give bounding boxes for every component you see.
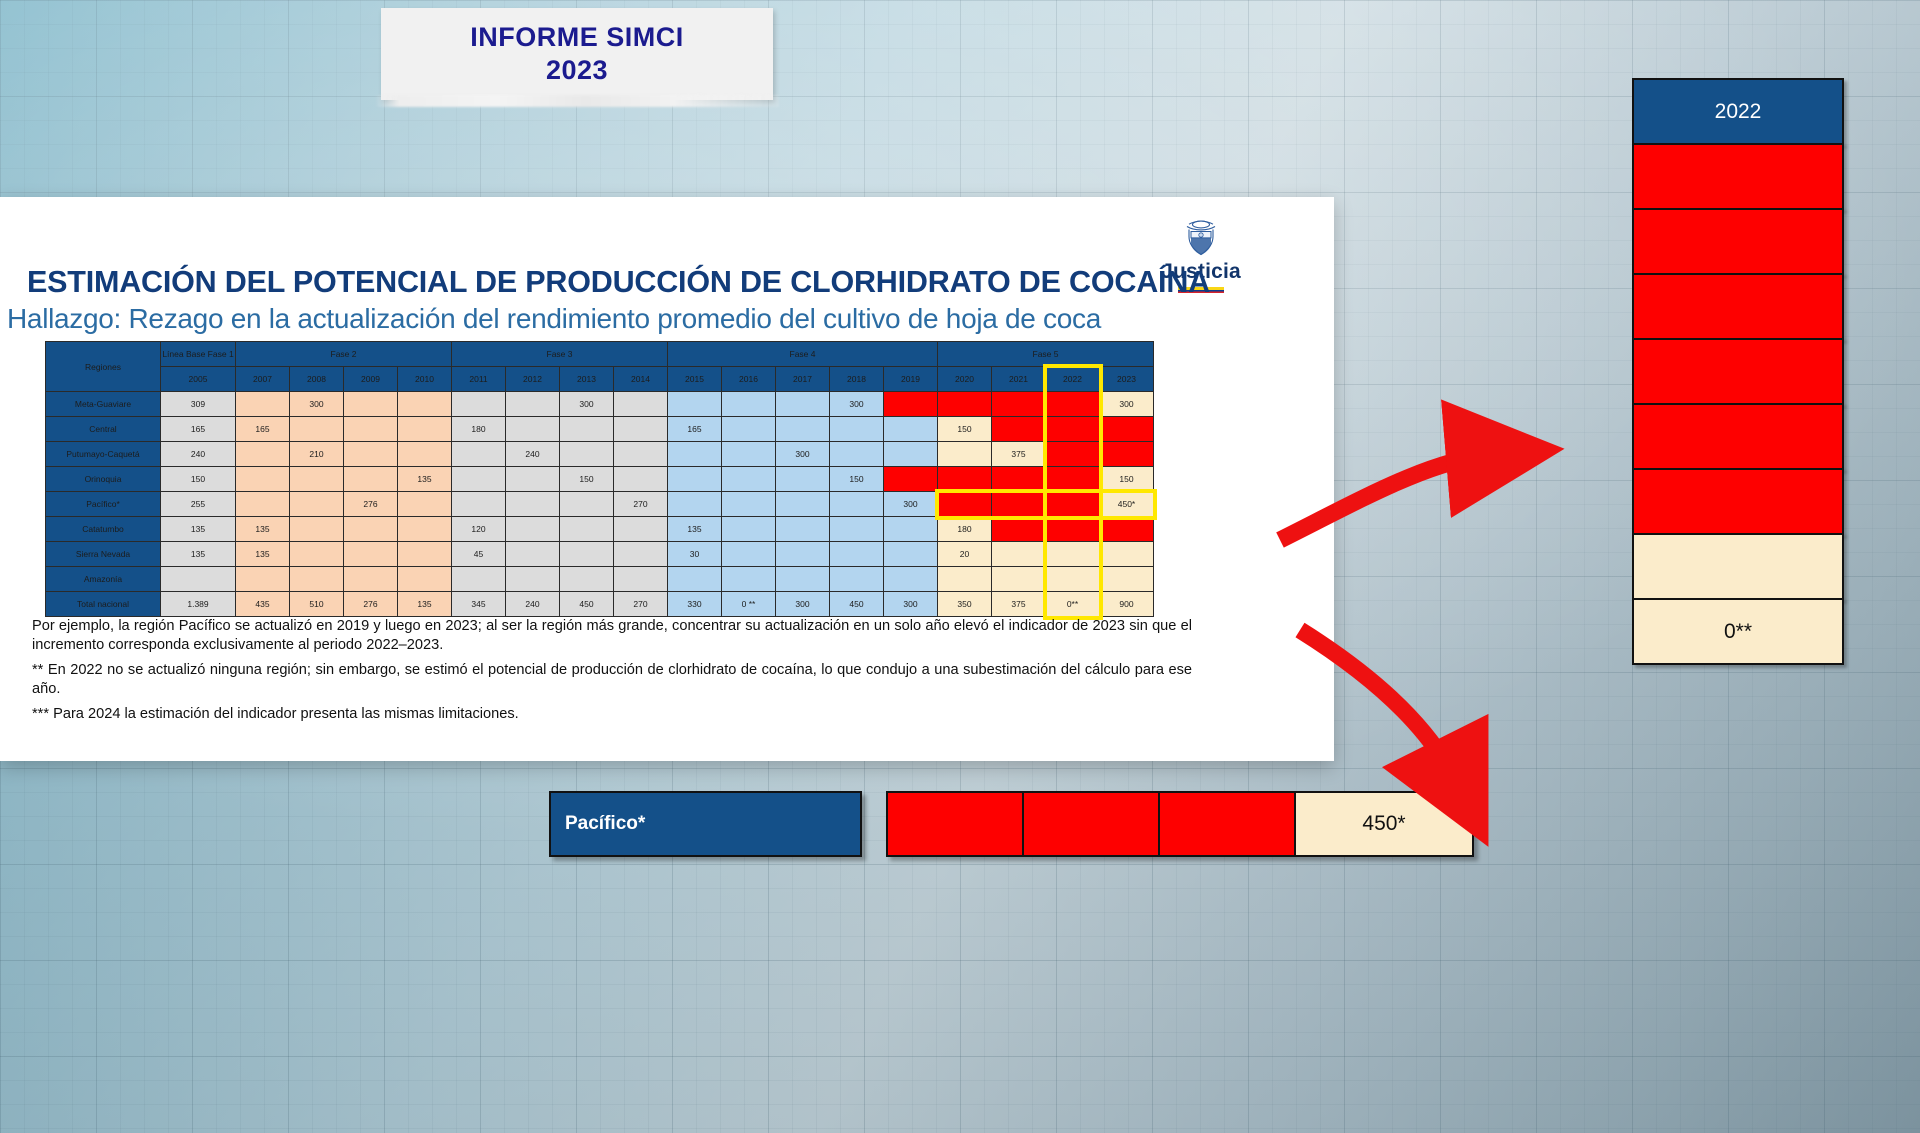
table-row: Putumayo-Caquetá240210240300375 — [46, 442, 1154, 467]
zoom-column-cell-1 — [1632, 143, 1844, 210]
cell-2008 — [290, 567, 344, 592]
cell-2012 — [506, 492, 560, 517]
cell-2009 — [344, 442, 398, 467]
cell-2009 — [344, 517, 398, 542]
page-subtitle: Hallazgo: Rezago en la actualización del… — [7, 303, 1101, 335]
year-header-2007: 2007 — [236, 367, 290, 392]
year-header-2017: 2017 — [776, 367, 830, 392]
cell-2011: 180 — [452, 417, 506, 442]
cell-2012 — [506, 517, 560, 542]
cell-2020: 150 — [938, 417, 992, 442]
phase-header-2: Fase 2 — [236, 342, 452, 367]
cell-2020 — [938, 442, 992, 467]
zoom-column-cell-4 — [1632, 338, 1844, 405]
cell-2005: 150 — [161, 467, 236, 492]
zoom-column-cell-3 — [1632, 273, 1844, 340]
cell-2010: 135 — [398, 592, 452, 617]
cell-2005: 1.389 — [161, 592, 236, 617]
cell-2019: 300 — [884, 492, 938, 517]
row-region-label: Sierra Nevada — [46, 542, 161, 567]
zoom-column-cell-total: 0** — [1632, 598, 1844, 665]
cell-2005: 135 — [161, 542, 236, 567]
cell-2019 — [884, 442, 938, 467]
cell-2020 — [938, 467, 992, 492]
cell-2016 — [722, 467, 776, 492]
cell-2007 — [236, 442, 290, 467]
cell-2023 — [1100, 517, 1154, 542]
cell-2008: 300 — [290, 392, 344, 417]
cell-2018: 150 — [830, 467, 884, 492]
cell-2017 — [776, 542, 830, 567]
phase-header-4: Fase 4 — [668, 342, 938, 367]
cell-2011 — [452, 567, 506, 592]
report-banner: INFORME SIMCI 2023 — [381, 8, 773, 100]
row-region-label: Meta-Guaviare — [46, 392, 161, 417]
table-row: Orinoquia150135150150150 — [46, 467, 1154, 492]
cell-2008 — [290, 492, 344, 517]
table-body: Meta-Guaviare309300300300300Central16516… — [46, 392, 1154, 617]
cell-2019: 300 — [884, 592, 938, 617]
cell-2012 — [506, 467, 560, 492]
cell-2015: 30 — [668, 542, 722, 567]
cell-2005: 240 — [161, 442, 236, 467]
cell-2018 — [830, 417, 884, 442]
cell-2021 — [992, 517, 1046, 542]
cell-2010 — [398, 442, 452, 467]
phase-header-3: Fase 3 — [452, 342, 668, 367]
cell-2014: 270 — [614, 592, 668, 617]
cell-2022 — [1046, 417, 1100, 442]
table-row: Total nacional1.389435510276135345240450… — [46, 592, 1154, 617]
zoom-column-cell-6 — [1632, 468, 1844, 535]
cell-2014 — [614, 417, 668, 442]
zoom-column-cell-2 — [1632, 208, 1844, 275]
cell-2017 — [776, 417, 830, 442]
cell-2021: 375 — [992, 442, 1046, 467]
cell-2023 — [1100, 417, 1154, 442]
cell-2012: 240 — [506, 592, 560, 617]
cell-2005 — [161, 567, 236, 592]
year-header-2021: 2021 — [992, 367, 1046, 392]
cell-2018: 450 — [830, 592, 884, 617]
row-region-label: Catatumbo — [46, 517, 161, 542]
cell-2016 — [722, 442, 776, 467]
cell-2013 — [560, 442, 614, 467]
cell-2009: 276 — [344, 492, 398, 517]
cell-2012 — [506, 567, 560, 592]
cell-2010 — [398, 417, 452, 442]
cell-2015: 330 — [668, 592, 722, 617]
year-header-2022: 2022 — [1046, 367, 1100, 392]
cell-2012 — [506, 392, 560, 417]
cell-2018 — [830, 567, 884, 592]
zoom-column-2022: 20220** — [1632, 78, 1844, 665]
cell-2011 — [452, 467, 506, 492]
year-header-2014: 2014 — [614, 367, 668, 392]
cell-2019 — [884, 417, 938, 442]
cell-2022 — [1046, 392, 1100, 417]
cell-2018 — [830, 542, 884, 567]
cell-2020 — [938, 392, 992, 417]
table-row: Pacífico*255276270300450* — [46, 492, 1154, 517]
year-header-2012: 2012 — [506, 367, 560, 392]
cell-2011: 120 — [452, 517, 506, 542]
cell-2022 — [1046, 517, 1100, 542]
cell-2009 — [344, 467, 398, 492]
cell-2013 — [560, 542, 614, 567]
zoom-column-cell-5 — [1632, 403, 1844, 470]
cell-2014: 270 — [614, 492, 668, 517]
zoom-column-cell-7 — [1632, 533, 1844, 600]
cell-2005: 165 — [161, 417, 236, 442]
cell-2009: 276 — [344, 592, 398, 617]
row-region-label: Pacífico* — [46, 492, 161, 517]
cell-2017: 300 — [776, 442, 830, 467]
cell-2015 — [668, 392, 722, 417]
slide-card: Justicia ESTIMACIÓN DEL POTENCIAL DE PRO… — [0, 197, 1334, 761]
zoom-row-segment-3 — [1160, 793, 1296, 855]
cell-2021 — [992, 542, 1046, 567]
cell-2023: 150 — [1100, 467, 1154, 492]
cell-2010 — [398, 492, 452, 517]
row-region-label: Amazonía — [46, 567, 161, 592]
cell-2016 — [722, 392, 776, 417]
cell-2014 — [614, 442, 668, 467]
cell-2020 — [938, 492, 992, 517]
cell-2008 — [290, 417, 344, 442]
cell-2008: 510 — [290, 592, 344, 617]
cell-2018: 300 — [830, 392, 884, 417]
cell-2005: 309 — [161, 392, 236, 417]
cell-2019 — [884, 567, 938, 592]
cell-2010 — [398, 567, 452, 592]
cell-2018 — [830, 492, 884, 517]
banner-line-2: 2023 — [546, 54, 608, 87]
cell-2010 — [398, 517, 452, 542]
cell-2008 — [290, 467, 344, 492]
cell-2008: 210 — [290, 442, 344, 467]
year-header-2019: 2019 — [884, 367, 938, 392]
year-header-2023: 2023 — [1100, 367, 1154, 392]
cell-2013: 450 — [560, 592, 614, 617]
cell-2022: 0** — [1046, 592, 1100, 617]
cell-2021 — [992, 567, 1046, 592]
cell-2013 — [560, 567, 614, 592]
cell-2023: 450* — [1100, 492, 1154, 517]
cell-2018 — [830, 442, 884, 467]
table-head: RegionesLínea Base Fase 1Fase 2Fase 3Fas… — [46, 342, 1154, 392]
yield-table-wrapper: RegionesLínea Base Fase 1Fase 2Fase 3Fas… — [45, 341, 1154, 617]
cell-2014 — [614, 517, 668, 542]
cell-2019 — [884, 542, 938, 567]
cell-2023: 300 — [1100, 392, 1154, 417]
cell-2015: 135 — [668, 517, 722, 542]
footnote-3: *** Para 2024 la estimación del indicado… — [32, 705, 1192, 724]
cell-2015 — [668, 567, 722, 592]
cell-2015 — [668, 492, 722, 517]
cell-2013 — [560, 517, 614, 542]
cell-2007: 435 — [236, 592, 290, 617]
cell-2015: 165 — [668, 417, 722, 442]
cell-2007 — [236, 492, 290, 517]
cell-2017: 300 — [776, 592, 830, 617]
cell-2016 — [722, 567, 776, 592]
cell-2008 — [290, 517, 344, 542]
cell-2008 — [290, 542, 344, 567]
cell-2022 — [1046, 467, 1100, 492]
footnote-2: ** En 2022 no se actualizó ninguna regió… — [32, 661, 1192, 699]
cell-2021: 375 — [992, 592, 1046, 617]
cell-2017 — [776, 492, 830, 517]
coat-of-arms-icon — [1180, 215, 1222, 259]
cell-2016 — [722, 542, 776, 567]
page-title: ESTIMACIÓN DEL POTENCIAL DE PRODUCCIÓN D… — [27, 265, 1210, 300]
cell-2021 — [992, 417, 1046, 442]
cell-2017 — [776, 392, 830, 417]
cell-2011 — [452, 392, 506, 417]
cell-2007: 135 — [236, 542, 290, 567]
cell-2005: 135 — [161, 517, 236, 542]
cell-2007 — [236, 567, 290, 592]
zoom-row-bar: 450* — [886, 791, 1474, 857]
cell-2007 — [236, 392, 290, 417]
cell-2007: 135 — [236, 517, 290, 542]
footnote-1: Por ejemplo, la región Pacífico se actua… — [32, 617, 1192, 655]
cell-2011: 345 — [452, 592, 506, 617]
cell-2007 — [236, 467, 290, 492]
cell-2011: 45 — [452, 542, 506, 567]
cell-2009 — [344, 417, 398, 442]
cell-2023: 900 — [1100, 592, 1154, 617]
row-region-label: Central — [46, 417, 161, 442]
cell-2011 — [452, 442, 506, 467]
cell-2016 — [722, 517, 776, 542]
row-region-label: Putumayo-Caquetá — [46, 442, 161, 467]
table-row: Meta-Guaviare309300300300300 — [46, 392, 1154, 417]
zoom-row-label: Pacífico* — [549, 791, 862, 857]
cell-2013: 300 — [560, 392, 614, 417]
row-region-label: Total nacional — [46, 592, 161, 617]
cell-2007: 165 — [236, 417, 290, 442]
cell-2020: 180 — [938, 517, 992, 542]
cell-2023 — [1100, 542, 1154, 567]
footnotes: Por ejemplo, la región Pacífico se actua… — [32, 617, 1192, 730]
cell-2017 — [776, 567, 830, 592]
table-row: Amazonía — [46, 567, 1154, 592]
cell-2023 — [1100, 567, 1154, 592]
slide-canvas: INFORME SIMCI 2023 20220** Justicia ESTI… — [0, 0, 1920, 1133]
cell-2022 — [1046, 567, 1100, 592]
cell-2013 — [560, 417, 614, 442]
cell-2013: 150 — [560, 467, 614, 492]
zoom-row-segment-2 — [1024, 793, 1160, 855]
year-header-2008: 2008 — [290, 367, 344, 392]
zoom-row-segment-1 — [888, 793, 1024, 855]
cell-2012: 240 — [506, 442, 560, 467]
cell-2016 — [722, 417, 776, 442]
cell-2011 — [452, 492, 506, 517]
phase-header-1: Línea Base Fase 1 — [161, 342, 236, 367]
table-row: Sierra Nevada135135453020 — [46, 542, 1154, 567]
cell-2010: 135 — [398, 467, 452, 492]
phase-header-row: RegionesLínea Base Fase 1Fase 2Fase 3Fas… — [46, 342, 1154, 367]
zoom-column-header: 2022 — [1632, 78, 1844, 145]
cell-2017 — [776, 467, 830, 492]
cell-2022 — [1046, 492, 1100, 517]
table-row: Catatumbo135135120135180 — [46, 517, 1154, 542]
cell-2020: 350 — [938, 592, 992, 617]
cell-2015 — [668, 442, 722, 467]
year-header-2009: 2009 — [344, 367, 398, 392]
cell-2020 — [938, 567, 992, 592]
cell-2022 — [1046, 442, 1100, 467]
cell-2014 — [614, 392, 668, 417]
cell-2021 — [992, 467, 1046, 492]
cell-2009 — [344, 542, 398, 567]
row-region-label: Orinoquia — [46, 467, 161, 492]
year-header-2005: 2005 — [161, 367, 236, 392]
year-header-2010: 2010 — [398, 367, 452, 392]
cell-2014 — [614, 467, 668, 492]
cell-2005: 255 — [161, 492, 236, 517]
cell-2019 — [884, 467, 938, 492]
year-header-2011: 2011 — [452, 367, 506, 392]
yield-table: RegionesLínea Base Fase 1Fase 2Fase 3Fas… — [45, 341, 1154, 617]
cell-2016: 0 ** — [722, 592, 776, 617]
phase-header-5: Fase 5 — [938, 342, 1154, 367]
cell-2014 — [614, 542, 668, 567]
cell-2012 — [506, 542, 560, 567]
year-header-2013: 2013 — [560, 367, 614, 392]
zoom-row-segment-4: 450* — [1296, 793, 1472, 855]
cell-2017 — [776, 517, 830, 542]
banner-line-1: INFORME SIMCI — [470, 21, 684, 54]
cell-2018 — [830, 517, 884, 542]
year-header-2018: 2018 — [830, 367, 884, 392]
cell-2009 — [344, 392, 398, 417]
cell-2022 — [1046, 542, 1100, 567]
cell-2009 — [344, 567, 398, 592]
cell-2021 — [992, 492, 1046, 517]
cell-2023 — [1100, 442, 1154, 467]
cell-2016 — [722, 492, 776, 517]
cell-2013 — [560, 492, 614, 517]
cell-2012 — [506, 417, 560, 442]
cell-2019 — [884, 517, 938, 542]
cell-2010 — [398, 392, 452, 417]
cell-2014 — [614, 567, 668, 592]
cell-2021 — [992, 392, 1046, 417]
cell-2010 — [398, 542, 452, 567]
table-row: Central165165180165150 — [46, 417, 1154, 442]
year-header-row: 2005200720082009201020112012201320142015… — [46, 367, 1154, 392]
year-header-2020: 2020 — [938, 367, 992, 392]
cell-2019 — [884, 392, 938, 417]
cell-2015 — [668, 467, 722, 492]
table-corner-label: Regiones — [46, 342, 161, 392]
year-header-2016: 2016 — [722, 367, 776, 392]
cell-2020: 20 — [938, 542, 992, 567]
year-header-2015: 2015 — [668, 367, 722, 392]
